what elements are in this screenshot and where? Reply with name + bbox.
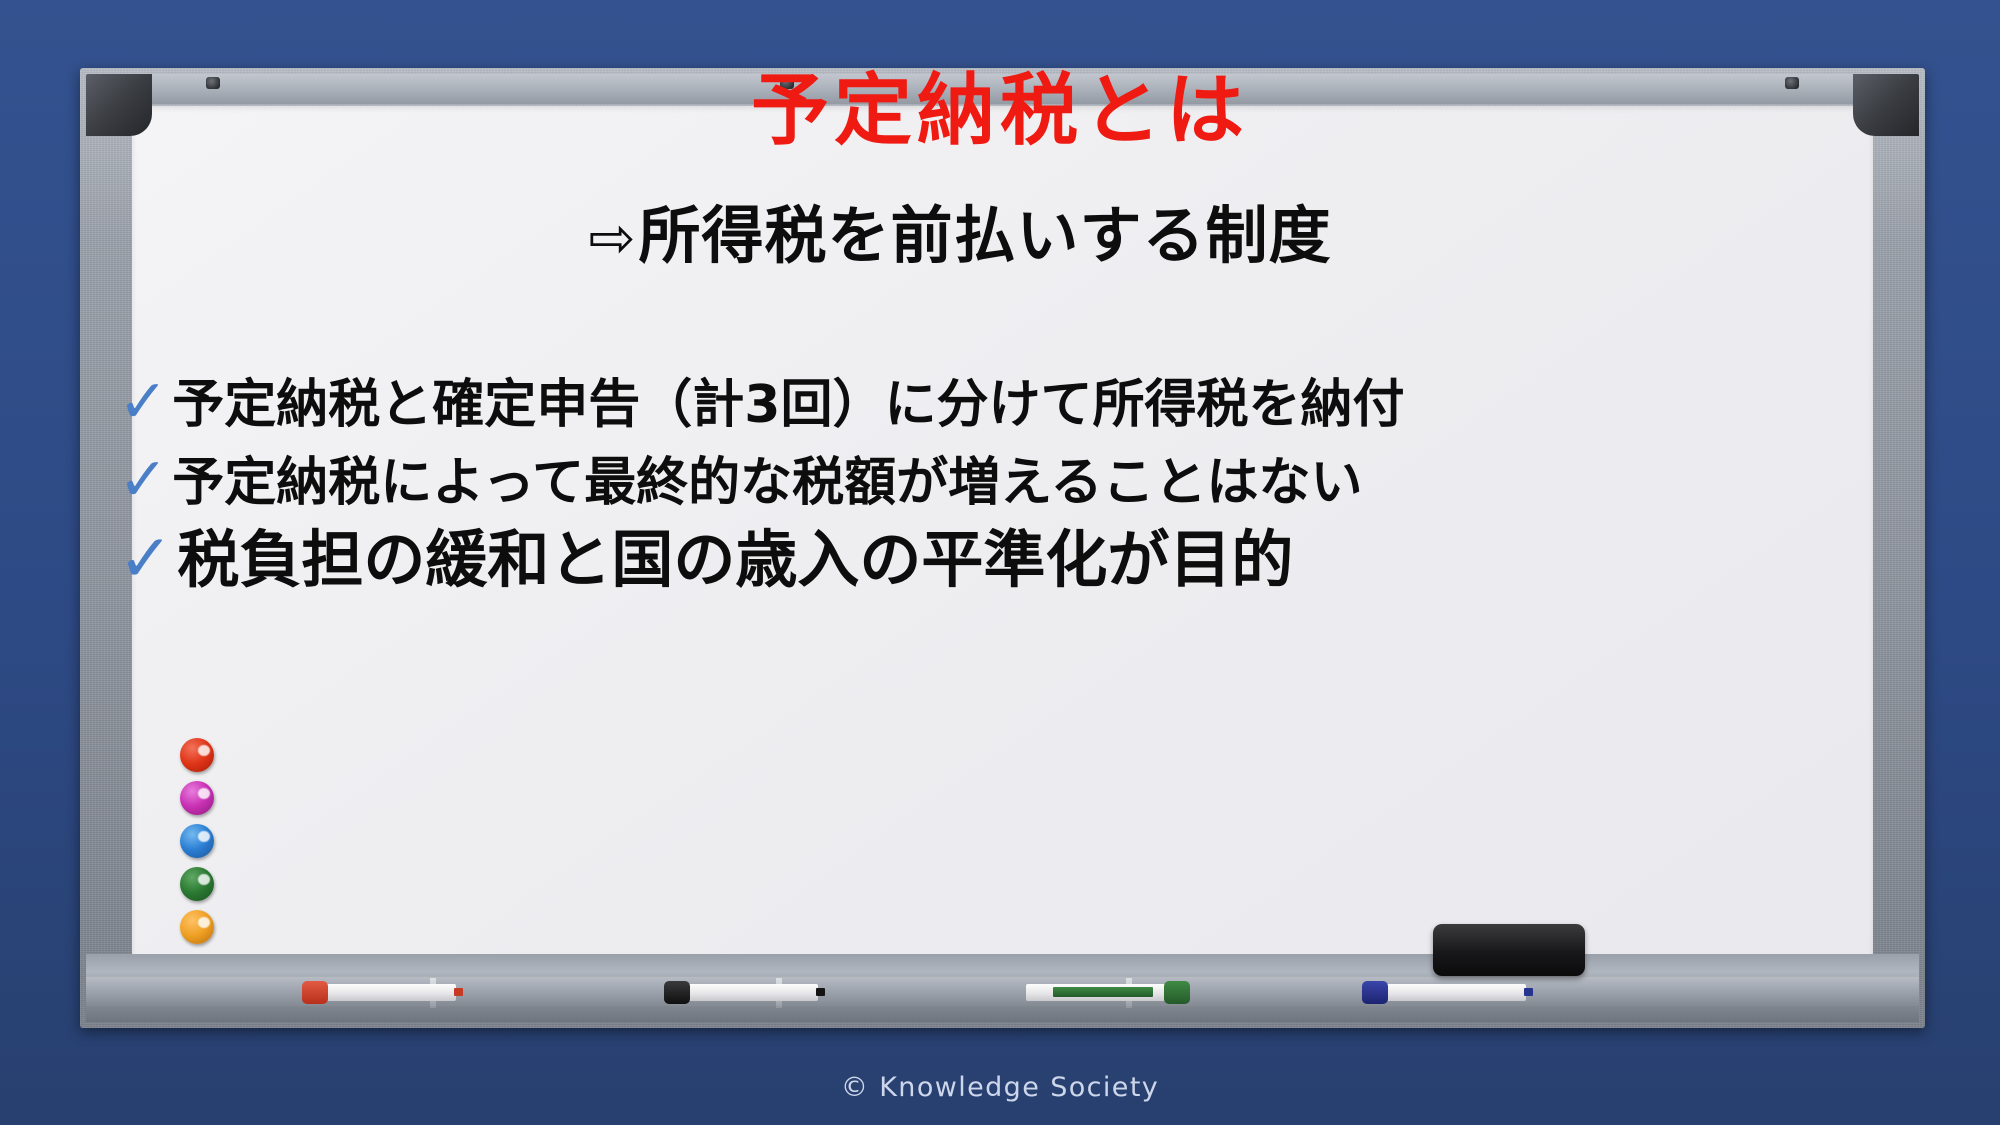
bullet-text: 予定納税によって最終的な税額が増えることはない (172, 454, 1362, 513)
check-icon: ✓ (118, 446, 168, 514)
bullet-item: ✓ 予定納税と確定申告（計3回）に分けて所得税を納付 (118, 368, 1960, 436)
slide-content: 予定納税とは ⇨所得税を前払いする制度 ✓ 予定納税と確定申告（計3回）に分けて… (0, 0, 2000, 1125)
right-arrow-icon: ⇨ (589, 206, 637, 271)
bullet-list: ✓ 予定納税と確定申告（計3回）に分けて所得税を納付 ✓ 予定納税によって最終的… (118, 368, 1960, 596)
bullet-text: 税負担の緩和と国の歳入の平準化が目的 (177, 525, 1293, 596)
slide-subtitle: ⇨所得税を前払いする制度 (0, 205, 2000, 267)
bullet-item: ✓ 予定納税によって最終的な税額が増えることはない (118, 446, 1960, 514)
check-icon: ✓ (118, 521, 173, 596)
slide-title: 予定納税とは (0, 72, 2000, 150)
bullet-text: 予定納税と確定申告（計3回）に分けて所得税を納付 (172, 376, 1404, 435)
check-icon: ✓ (118, 368, 168, 436)
slide-root: 予定納税とは ⇨所得税を前払いする制度 ✓ 予定納税と確定申告（計3回）に分けて… (0, 0, 2000, 1125)
slide-subtitle-text: 所得税を前払いする制度 (638, 199, 1331, 272)
bullet-item: ✓ 税負担の緩和と国の歳入の平準化が目的 (118, 521, 1960, 596)
